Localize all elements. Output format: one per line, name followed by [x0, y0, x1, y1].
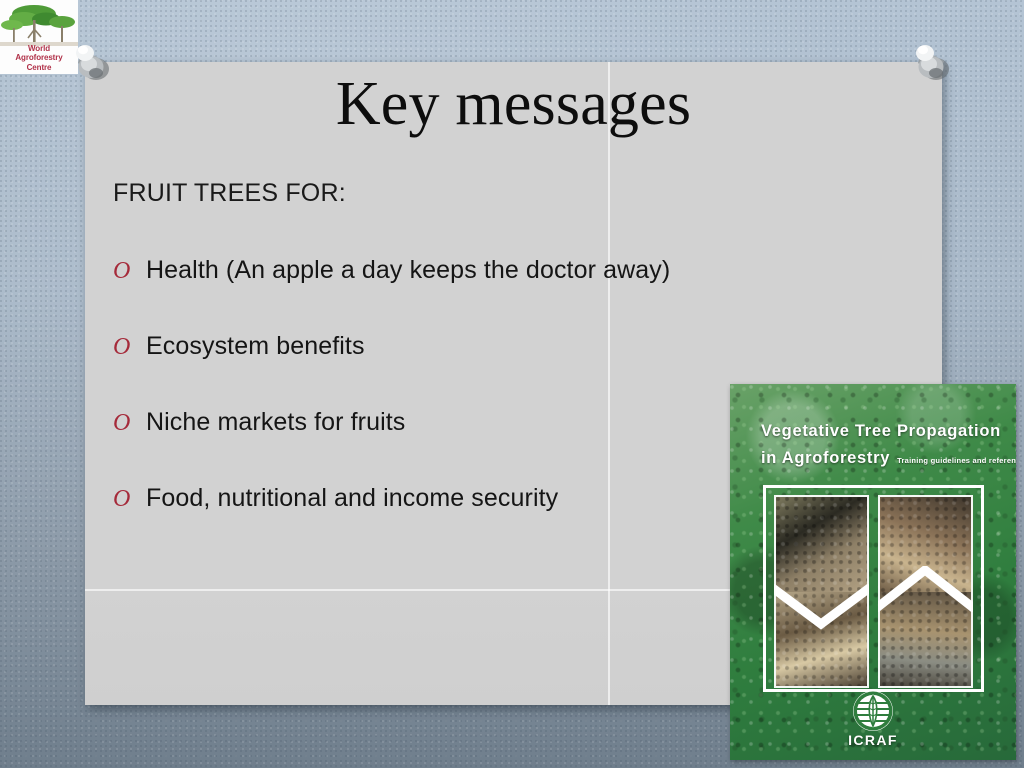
- bullet-text: Health (An apple a day keeps the doctor …: [146, 256, 670, 285]
- logo-line-2: Agroforestry: [0, 53, 78, 63]
- bullet-item-health: O Health (An apple a day keeps the docto…: [113, 256, 713, 285]
- pushpin-icon: [70, 33, 116, 85]
- slide-panel: Key messages FRUIT TREES FOR: O Health (…: [85, 62, 942, 705]
- bullet-item-food-security: O Food, nutritional and income security: [113, 484, 713, 513]
- pushpin-icon: [910, 33, 956, 85]
- slide-title: Key messages: [85, 72, 942, 137]
- bullet-item-niche-markets: O Niche markets for fruits: [113, 408, 713, 437]
- photo-montage-frame: [763, 485, 984, 692]
- bullet-marker-icon: O: [113, 411, 146, 435]
- icraf-logo: ICRAF: [834, 691, 912, 748]
- book-title-line1: Vegetative Tree Propagation: [761, 422, 1006, 441]
- bullet-text: Food, nutritional and income security: [146, 484, 558, 513]
- photo-grafting-knife: [776, 592, 867, 687]
- book-cover-image: Vegetative Tree Propagation in Agrofores…: [730, 384, 1016, 760]
- icraf-leaf-emblem-icon: [853, 691, 893, 731]
- logo-line-1: World: [0, 44, 78, 54]
- photo-grafting-secateurs: [776, 497, 867, 592]
- photo-graft-union: [880, 497, 971, 592]
- slide-body: FRUIT TREES FOR: O Health (An apple a da…: [113, 179, 713, 513]
- world-agroforestry-centre-logo: World Agroforestry Centre: [0, 0, 78, 74]
- bullet-marker-icon: O: [113, 259, 146, 283]
- photo-column-left: [774, 495, 869, 688]
- bullet-text: Ecosystem benefits: [146, 332, 365, 361]
- book-title-line2-row: in Agroforestry Training guidelines and …: [761, 449, 1006, 468]
- logo-wordmark: World Agroforestry Centre: [0, 44, 78, 73]
- bullet-marker-icon: O: [113, 487, 146, 511]
- intro-line: FRUIT TREES FOR:: [113, 179, 713, 208]
- book-subtitle: Training guidelines and references: [897, 456, 1016, 465]
- bullet-marker-icon: O: [113, 335, 146, 359]
- bullet-text: Niche markets for fruits: [146, 408, 405, 437]
- bullet-item-ecosystem: O Ecosystem benefits: [113, 332, 713, 361]
- presentation-stage: Key messages FRUIT TREES FOR: O Health (…: [0, 0, 1024, 768]
- photo-graft-wrapping: [880, 592, 971, 687]
- icraf-wordmark: ICRAF: [834, 732, 912, 748]
- book-title-line2: in Agroforestry: [761, 449, 890, 468]
- logo-line-3: Centre: [0, 63, 78, 73]
- book-title-block: Vegetative Tree Propagation in Agrofores…: [761, 422, 1006, 468]
- photo-column-right: [878, 495, 973, 688]
